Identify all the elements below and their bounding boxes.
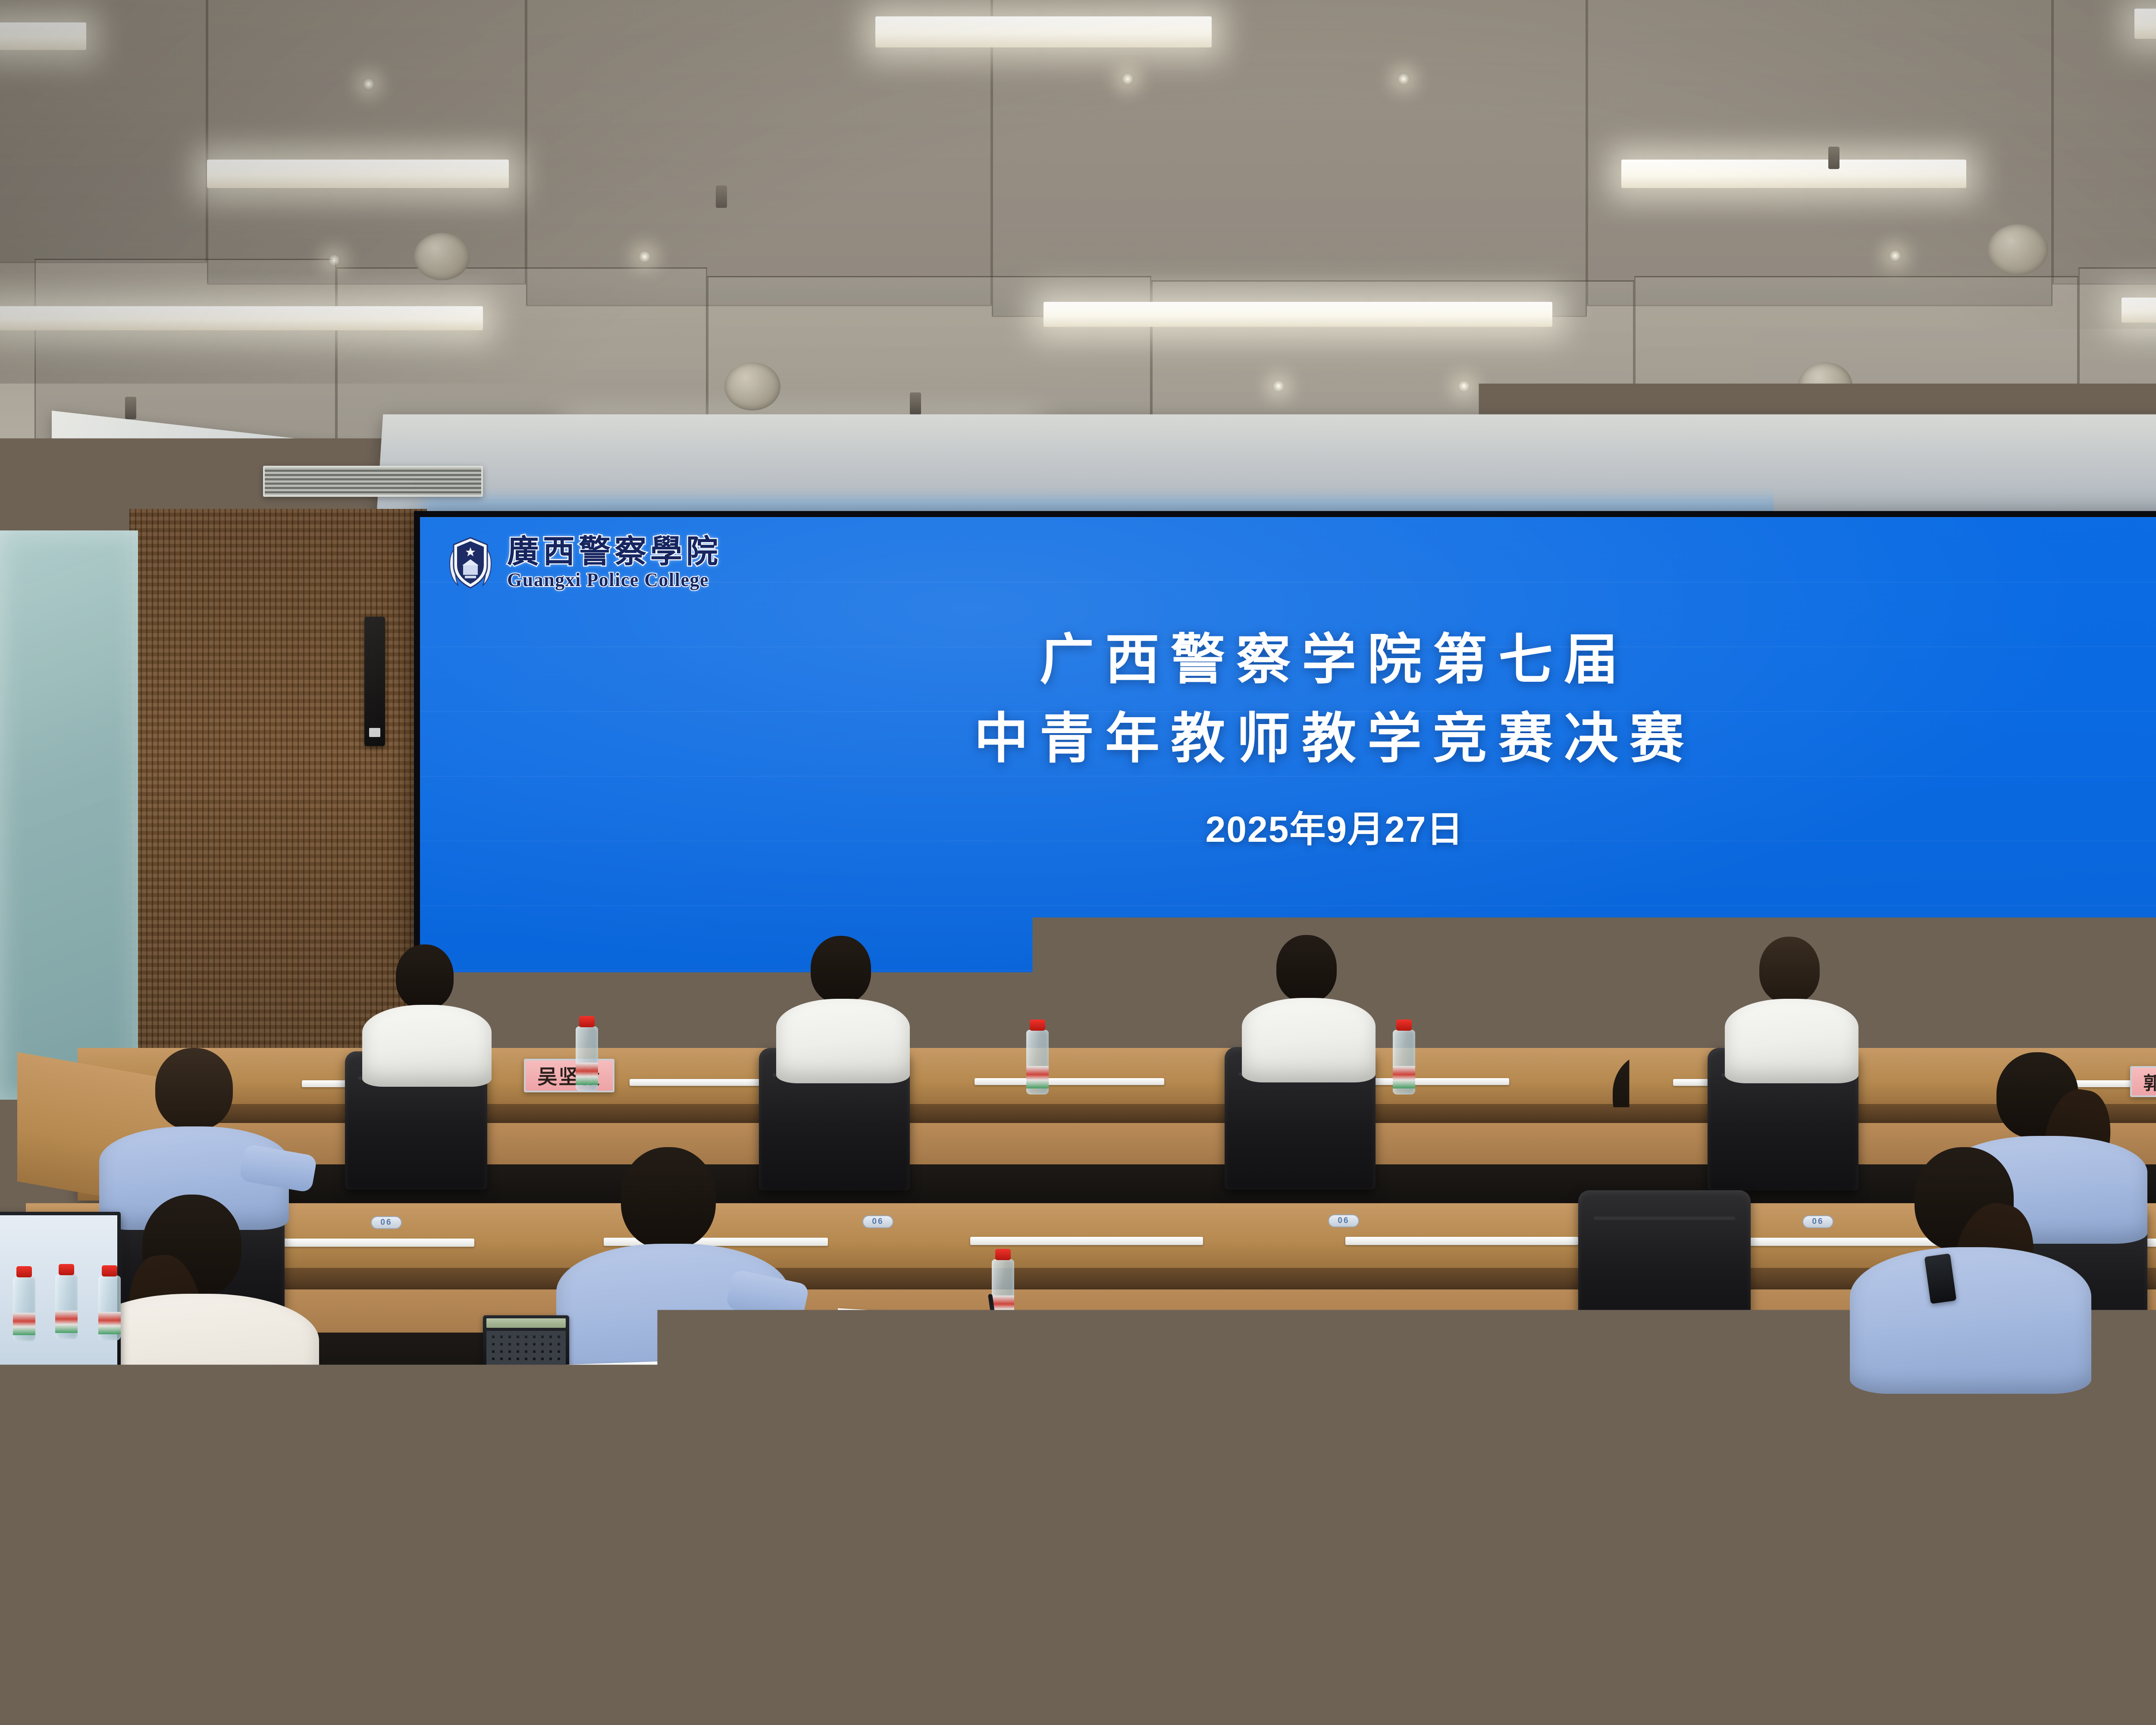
desk-mic-strip [1345,1237,1578,1245]
conference-hall-photo: 廣西警察學院 Guangxi Police College 广西警察学院第七届 … [0,0,2156,1725]
desk-mic-strip [970,1237,1203,1245]
screen-subtitle: 2025年9月27日 [420,800,2156,853]
water-bottle [13,1276,35,1341]
paper-sheet [835,1308,941,1361]
screen-title-line-1: 广西警察学院第七届 [420,621,2156,699]
second-table-edge [26,1268,2156,1289]
water-bottle [992,1259,1014,1324]
desk-power-outlet[interactable] [2065,1418,2103,1433]
computer-mouse[interactable] [9,1402,48,1427]
ceiling-light-strip [0,22,86,50]
water-bottle [1026,1030,1049,1095]
police-crest-icon [445,534,496,591]
desk-power-outlet[interactable] [862,1215,893,1228]
screen-logo-block: 廣西警察學院 Guangxi Police College [445,534,722,591]
ceiling-light-strip [875,16,1212,47]
calculator[interactable] [483,1315,569,1372]
sprinkler-icon [1716,392,1727,415]
second-row-person-center-right [1552,1052,1755,1225]
chair [1682,1604,1949,1725]
screen-title-line-2: 中青年教师教学竞赛决赛 [420,699,2156,778]
ceiling-speaker-icon [1988,224,2048,275]
frosted-glass-panel [0,530,138,1100]
second-table-top [26,1203,2156,1268]
desk-mic-strip [1984,1656,2156,1667]
small-box [56,1572,108,1650]
ceiling-light-strip [1621,160,1966,188]
desk-power-outlet[interactable] [1087,1417,1124,1432]
wall-speaker-left [364,617,385,746]
water-bottle [1393,1030,1415,1095]
third-row-person-right [1850,1147,2091,1389]
second-row-person-left [99,1048,289,1216]
sprinkler-icon [125,397,136,419]
chair [1587,1423,1794,1596]
front-row-person-3 [1242,935,1376,1064]
screen-title-block: 广西警察学院第七届 中青年教师教学竞赛决赛 2025年9月27日 [420,621,2156,853]
water-bottle [98,1276,121,1340]
desk-power-outlet[interactable] [1328,1214,1359,1227]
hvac-vent-left [263,466,483,497]
banner-text: 警院 [0,1703,121,1725]
ceiling-light-strip [207,160,509,188]
ceiling-light-strip [1044,302,1552,327]
third-row-person-masked [556,1147,789,1380]
ceiling-speaker-icon [724,362,780,411]
sprinkler-icon [716,185,727,208]
third-table-edge [0,1479,2156,1505]
chair [466,1393,655,1552]
ceiling-light-strip [2134,9,2156,39]
water-bottle [576,1026,598,1091]
chair [789,1427,992,1600]
front-row-person-2 [776,936,910,1065]
desk-power-outlet[interactable] [371,1216,402,1229]
desk-mic-strip [1768,1439,2044,1448]
sprinkler-icon [910,392,921,415]
water-bottle [55,1274,78,1339]
ceiling-speaker-icon [414,233,470,280]
paper-sheet [551,1360,691,1417]
ceiling-light-strip [0,306,483,330]
screen-logo-english: Guangxi Police College [507,571,722,590]
ceiling-light-strip [2122,298,2156,323]
desk-power-outlet[interactable] [1802,1215,1833,1228]
nameplate-left: 吴坚毅 [524,1059,614,1092]
screen-logo-chinese: 廣西警察學院 [507,536,722,568]
third-table-top [0,1397,2156,1479]
ceiling-speaker-icon [1798,362,1852,409]
front-row-person-4 [1725,937,1858,1066]
sprinkler-icon [1828,147,1839,169]
desk-mic-strip [975,1078,1164,1085]
front-row-person-1 [362,944,492,1069]
